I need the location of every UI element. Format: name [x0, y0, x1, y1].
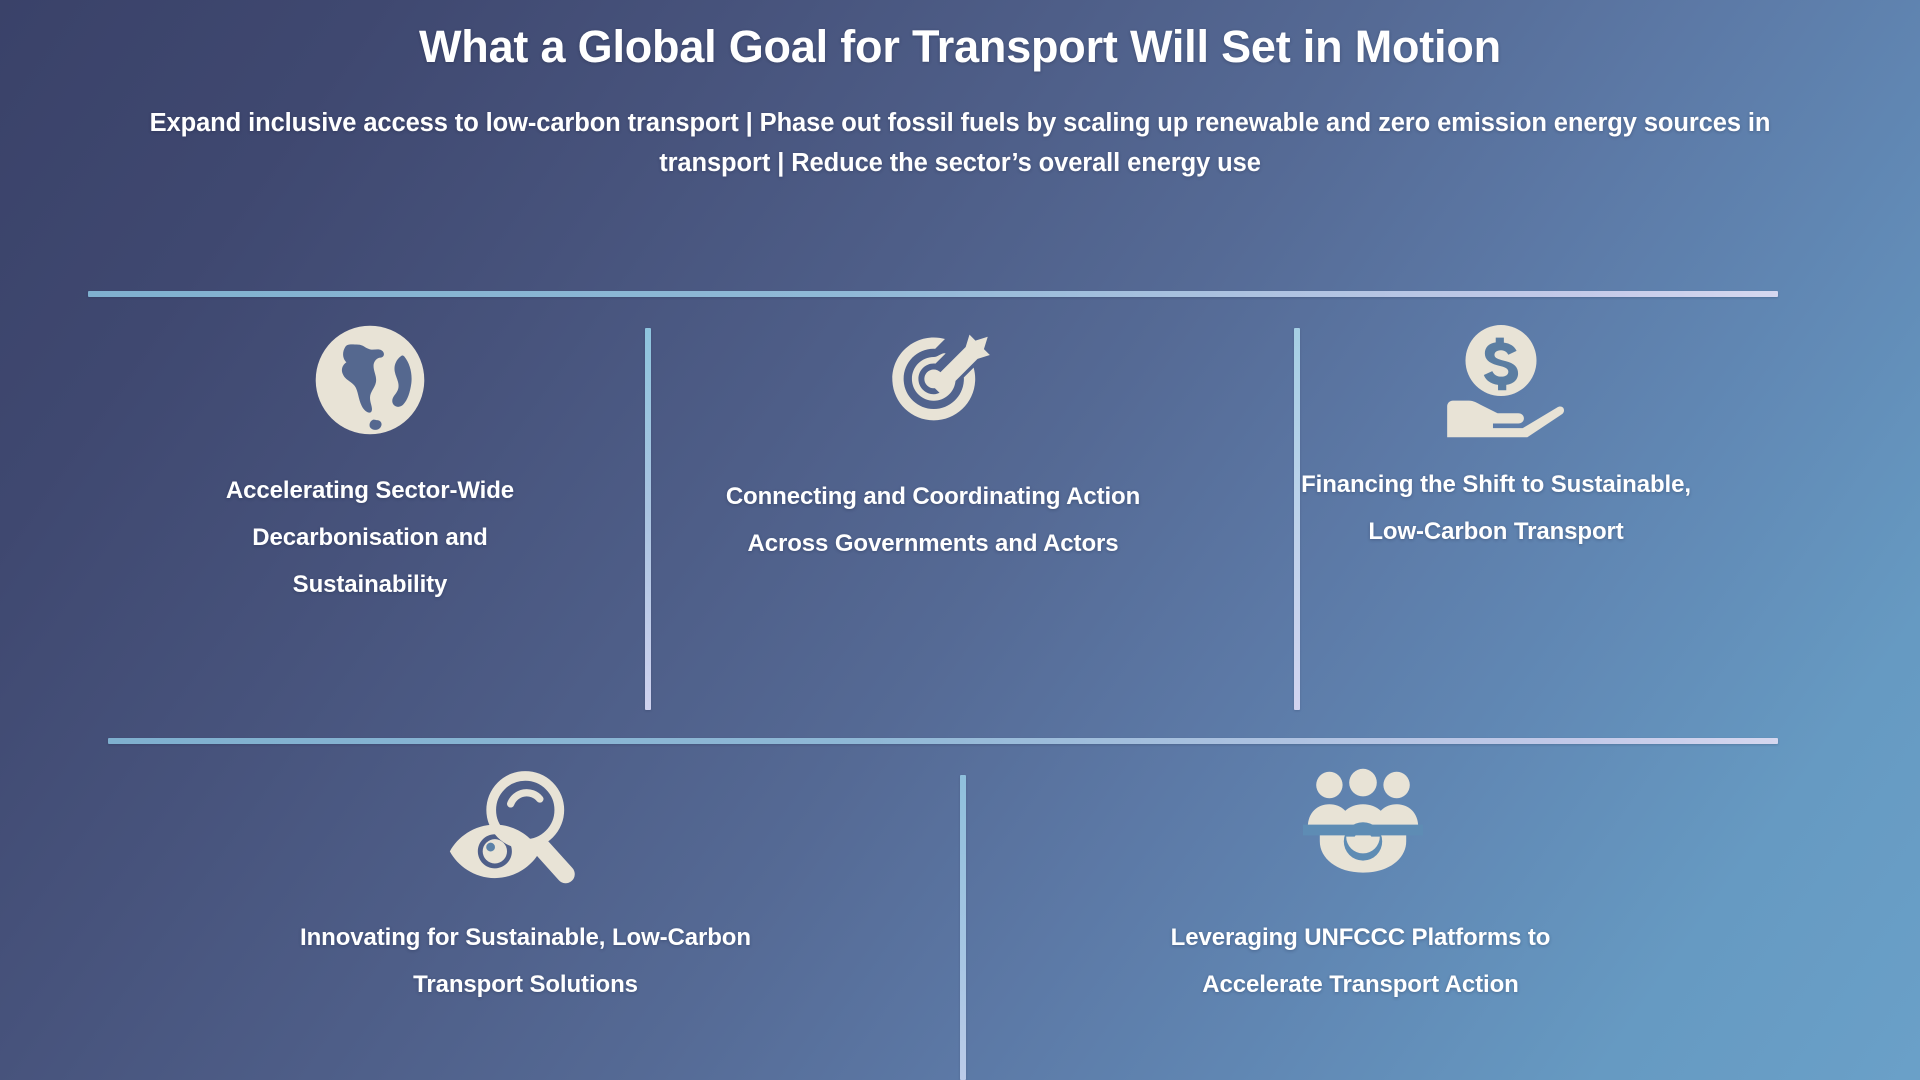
card-row-bottom: Innovating for Sustainable, Low-Carbon T…	[108, 765, 1778, 1009]
eye-magnifier-icon	[445, 765, 597, 889]
divider-horizontal-middle	[108, 738, 1778, 744]
slide-header: What a Global Goal for Transport Will Se…	[0, 0, 1920, 183]
card-title: Financing the Shift to Sustainable, Low-…	[1296, 462, 1696, 556]
card-title: Innovating for Sustainable, Low-Carbon T…	[256, 915, 796, 1009]
globe-icon	[311, 318, 429, 442]
card-row-top: Accelerating Sector-Wide Decarbonisation…	[88, 318, 1778, 608]
card-financing-shift[interactable]: Financing the Shift to Sustainable, Low-…	[1215, 318, 1778, 556]
card-title: Leveraging UNFCCC Platforms to Accelerat…	[1116, 915, 1606, 1009]
people-gear-icon	[1301, 765, 1425, 889]
card-title: Accelerating Sector-Wide Decarbonisation…	[175, 468, 565, 608]
divider-horizontal-top	[88, 291, 1778, 297]
slide-subtitle: Expand inclusive access to low-carbon tr…	[110, 74, 1810, 183]
card-innovating-solutions[interactable]: Innovating for Sustainable, Low-Carbon T…	[108, 765, 943, 1009]
page-title: What a Global Goal for Transport Will Se…	[0, 0, 1920, 74]
card-accelerating-decarbonisation[interactable]: Accelerating Sector-Wide Decarbonisation…	[89, 318, 652, 608]
card-title: Connecting and Coordinating Action Acros…	[698, 474, 1168, 568]
money-hand-icon	[1438, 318, 1564, 442]
card-connecting-coordinating[interactable]: Connecting and Coordinating Action Acros…	[652, 318, 1215, 568]
target-arrow-icon	[880, 318, 992, 442]
slide-canvas: What a Global Goal for Transport Will Se…	[0, 0, 1920, 1080]
card-leveraging-unfccc[interactable]: Leveraging UNFCCC Platforms to Accelerat…	[943, 765, 1778, 1009]
